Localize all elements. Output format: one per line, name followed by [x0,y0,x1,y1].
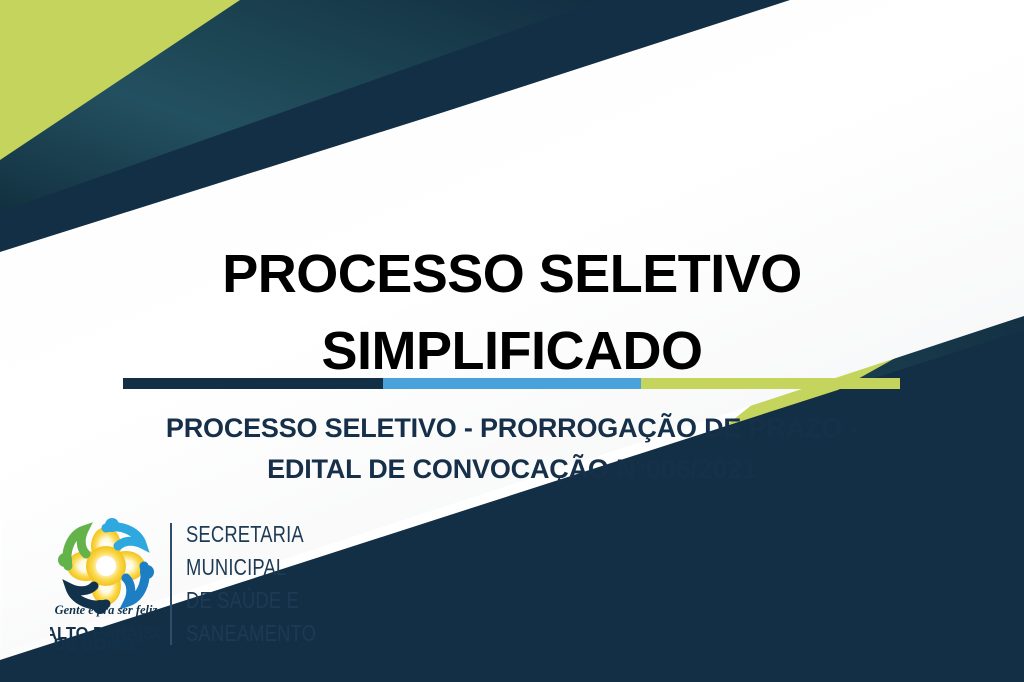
logo-tagline: Gente é pra ser feliz [55,603,158,617]
logo-mandate-line-2: 2021 - 2024 [115,647,142,653]
divider-segment-navy [123,378,383,389]
divider-segment-green [641,378,900,389]
logo-artwork: Gente é pra ser feliz ALTO PARAÍSO DE GO… [50,510,162,658]
brand-divider-rule [170,523,172,645]
alto-paraiso-logo: Gente é pra ser feliz ALTO PARAÍSO DE GO… [50,510,162,658]
brand-lockup: Gente é pra ser feliz ALTO PARAÍSO DE GO… [50,508,349,660]
page-title: PROCESSO SELETIVO SIMPLIFICADO [150,236,874,389]
department-name: SECRETARIA MUNICIPAL DE SAÚDE E SANEAMEN… [186,518,316,650]
logo-mandate-line-1: PREFEITURA [112,640,144,646]
page-subtitle: PROCESSO SELETIVO - PRORROGAÇÃO DE PRAZO… [112,408,912,490]
slide-canvas: PROCESSO SELETIVO SIMPLIFICADO PROCESSO … [0,0,1024,682]
divider-segment-blue [383,378,642,389]
tricolor-divider [123,378,900,389]
